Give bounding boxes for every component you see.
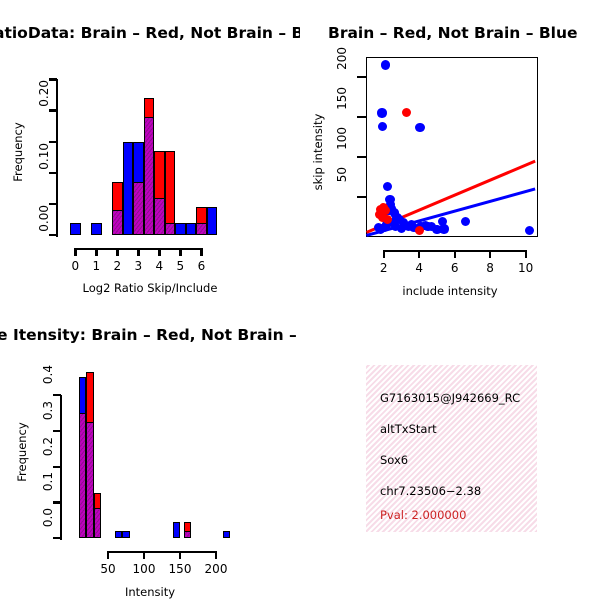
x-axis-tick	[116, 248, 118, 256]
x-axis-tick	[74, 248, 76, 256]
histogram-bar-overlap	[165, 223, 176, 235]
scatter-point-red	[415, 226, 424, 235]
scatter-point-blue	[397, 224, 406, 233]
y-axis-tick-label: 200	[335, 47, 349, 103]
panel-hist-intensity: ne Itensity: Brain – Red, Not Brain – B …	[0, 300, 300, 600]
info-line-locus: chr7.23506−2.38	[380, 484, 481, 498]
histogram-bar	[175, 223, 186, 235]
x-axis-tick-label: 4	[399, 261, 439, 275]
info-line-pval: Pval: 2.000000	[380, 508, 466, 522]
histogram-bar	[91, 223, 102, 235]
histogram-bar	[123, 142, 134, 235]
x-axis-tick	[95, 248, 97, 256]
histogram-bar-overlap	[196, 223, 207, 235]
x-axis-tick	[200, 248, 202, 256]
y-axis-tick	[357, 76, 366, 78]
histogram-bar	[173, 522, 180, 538]
x-axis-tick-label: 50	[88, 562, 128, 576]
x-axis-tick-label: 2	[364, 261, 404, 275]
y-axis-tick	[49, 78, 57, 80]
panel-scatter: Brain – Red, Not Brain – Blue skip inten…	[300, 0, 600, 300]
x-axis-tick	[489, 250, 491, 258]
x-axis-tick	[179, 248, 181, 256]
y-axis-tick-label: 0.20	[37, 80, 51, 136]
histogram-bar-overlap	[184, 531, 191, 538]
scatter-point-blue	[525, 226, 534, 235]
scatter-point-red	[383, 215, 392, 224]
histogram-bar	[122, 531, 129, 538]
y-axis-line	[56, 79, 58, 237]
histogram-bar-overlap	[154, 198, 165, 235]
y-axis-tick	[49, 141, 57, 143]
x-axis-tick-label: 8	[470, 261, 510, 275]
info-line-gene: Sox6	[380, 453, 408, 467]
x-axis-tick-label: 10	[506, 261, 546, 275]
x-axis-tick	[418, 250, 420, 258]
x-axis-tick-label: 200	[196, 562, 236, 576]
x-axis-tick-label: 6	[435, 261, 475, 275]
y-axis-tick	[49, 203, 57, 205]
histogram-bar-overlap	[112, 210, 123, 235]
y-axis-tick	[357, 116, 366, 118]
scatter-point-blue	[383, 182, 392, 191]
y-axis-tick	[357, 156, 366, 158]
x-axis-tick	[383, 250, 385, 258]
histogram-bar	[186, 223, 197, 235]
y-axis-tick-label: 0.10	[37, 143, 51, 199]
info-annotation-box: G7163015@J942669_RC altTxStart Sox6 chr7…	[366, 365, 537, 532]
x-axis-tick	[158, 248, 160, 256]
histogram-bar-overlap	[79, 413, 86, 538]
x-axis-tick-label: 6	[181, 259, 221, 273]
panel-hist-ratio: atioData: Brain – Red, Not Brain – Blu F…	[0, 0, 300, 300]
hist-ratio-plot-area: 0.000.100.200123456	[0, 0, 300, 300]
x-axis-line	[107, 551, 217, 553]
scatter-point-blue	[439, 224, 448, 233]
y-axis-tick	[357, 196, 366, 198]
x-axis-tick	[137, 248, 139, 256]
x-axis-tick	[525, 250, 527, 258]
histogram-bar-overlap	[133, 182, 144, 235]
scatter-point-blue	[381, 60, 390, 69]
x-axis-tick	[215, 551, 217, 559]
histogram-bar	[207, 207, 218, 235]
histogram-bar-overlap	[94, 508, 101, 538]
histogram-bar-overlap	[86, 422, 93, 538]
x-axis-tick-label: 150	[160, 562, 200, 576]
y-axis-tick-label: 0.00	[37, 205, 51, 261]
x-axis-tick-label: 100	[124, 562, 164, 576]
x-axis-tick	[179, 551, 181, 559]
histogram-bar-overlap	[144, 117, 155, 235]
histogram-bar	[115, 531, 122, 538]
x-axis-tick	[454, 250, 456, 258]
x-axis-tick	[143, 551, 145, 559]
scatter-plot-area: 50100150200246810	[300, 0, 600, 300]
info-line-event-type: altTxStart	[380, 422, 437, 436]
scatter-point-blue	[377, 108, 386, 117]
y-axis-tick-label: 0.4	[41, 365, 55, 421]
scatter-point-blue	[415, 123, 424, 132]
histogram-bar	[70, 223, 81, 235]
panel-info: G7163015@J942669_RC altTxStart Sox6 chr7…	[300, 300, 600, 600]
histogram-bar	[223, 531, 230, 538]
x-axis-tick	[107, 551, 109, 559]
info-line-feature-id: G7163015@J942669_RC	[380, 391, 520, 405]
hist-intensity-plot-area: 0.00.10.20.30.450100150200	[0, 300, 300, 600]
